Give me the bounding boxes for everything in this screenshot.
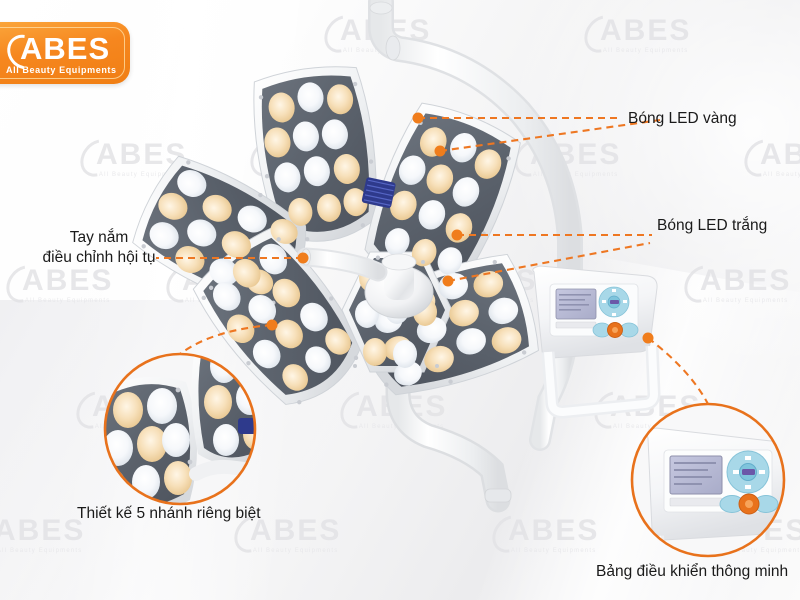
watermark: ABESAll Beauty Equipments <box>96 140 187 178</box>
label-white-led: Bóng LED trắng <box>657 217 767 235</box>
logo-tagline: All Beauty Equipments <box>6 65 117 75</box>
watermark: ABESAll Beauty Equipments <box>716 516 800 554</box>
watermark: ABESAll Beauty Equipments <box>92 392 183 430</box>
watermark: ABESAll Beauty Equipments <box>22 266 113 304</box>
leader-dot-white-led-lower <box>443 276 454 287</box>
watermark: ABESAll Beauty Equipments <box>508 516 599 554</box>
leader-dot-white-led <box>452 230 463 241</box>
label-focus-handle-line2: điều chỉnh hội tụ <box>24 248 174 268</box>
inset-petal-closeup <box>91 337 279 515</box>
abes-logo[interactable]: ABES All Beauty Equipments <box>0 22 130 84</box>
watermark: ABESAll Beauty Equipments <box>182 266 273 304</box>
watermark: ABESAll Beauty Equipments <box>250 516 341 554</box>
watermark: ABESAll Beauty Equipments <box>610 392 701 430</box>
watermark: ABESAll Beauty Equipments <box>600 16 691 54</box>
background-glow <box>500 0 800 380</box>
watermark: ABESAll Beauty Equipments <box>760 140 800 178</box>
control-panel-main <box>533 266 657 412</box>
watermark: ABESAll Beauty Equipments <box>340 16 431 54</box>
caption-petal-closeup: Thiết kế 5 nhánh riêng biệt <box>77 505 261 523</box>
leader-white-led-lower <box>448 243 650 281</box>
watermark: ABESAll Beauty Equipments <box>356 392 447 430</box>
leader-five-petals <box>180 325 272 354</box>
label-yellow-led: Bóng LED vàng <box>628 110 737 128</box>
background-shade <box>0 300 460 600</box>
leader-dot-white-led-upper <box>435 146 446 157</box>
watermark: ABESAll Beauty Equipments <box>446 266 537 304</box>
background-sweep-lower <box>95 186 800 600</box>
logo-wordmark: ABES <box>20 33 110 64</box>
label-focus-handle-line1: Tay nắm <box>24 228 174 248</box>
watermark: ABESAll Beauty Equipments <box>530 140 621 178</box>
leader-dot-five-petals <box>267 320 278 331</box>
leader-dot-control-panel <box>643 333 654 344</box>
watermark: ABESAll Beauty Equipments <box>700 266 791 304</box>
leader-control-panel <box>648 338 708 404</box>
leader-dot-focus-handle <box>298 253 309 264</box>
product-infographic: ABESAll Beauty Equipments ABESAll Beauty… <box>0 0 800 600</box>
cable-bundle <box>361 177 396 209</box>
watermark: ABESAll Beauty Equipments <box>266 140 357 178</box>
caption-panel-closeup: Bảng điều khiển thông minh <box>596 563 788 581</box>
leader-dot-yellow-led <box>413 113 424 124</box>
label-focus-handle: Tay nắm điều chỉnh hội tụ <box>24 228 174 268</box>
watermark: ABESAll Beauty Equipments <box>0 516 85 554</box>
leader-white-led-upper <box>440 120 660 151</box>
